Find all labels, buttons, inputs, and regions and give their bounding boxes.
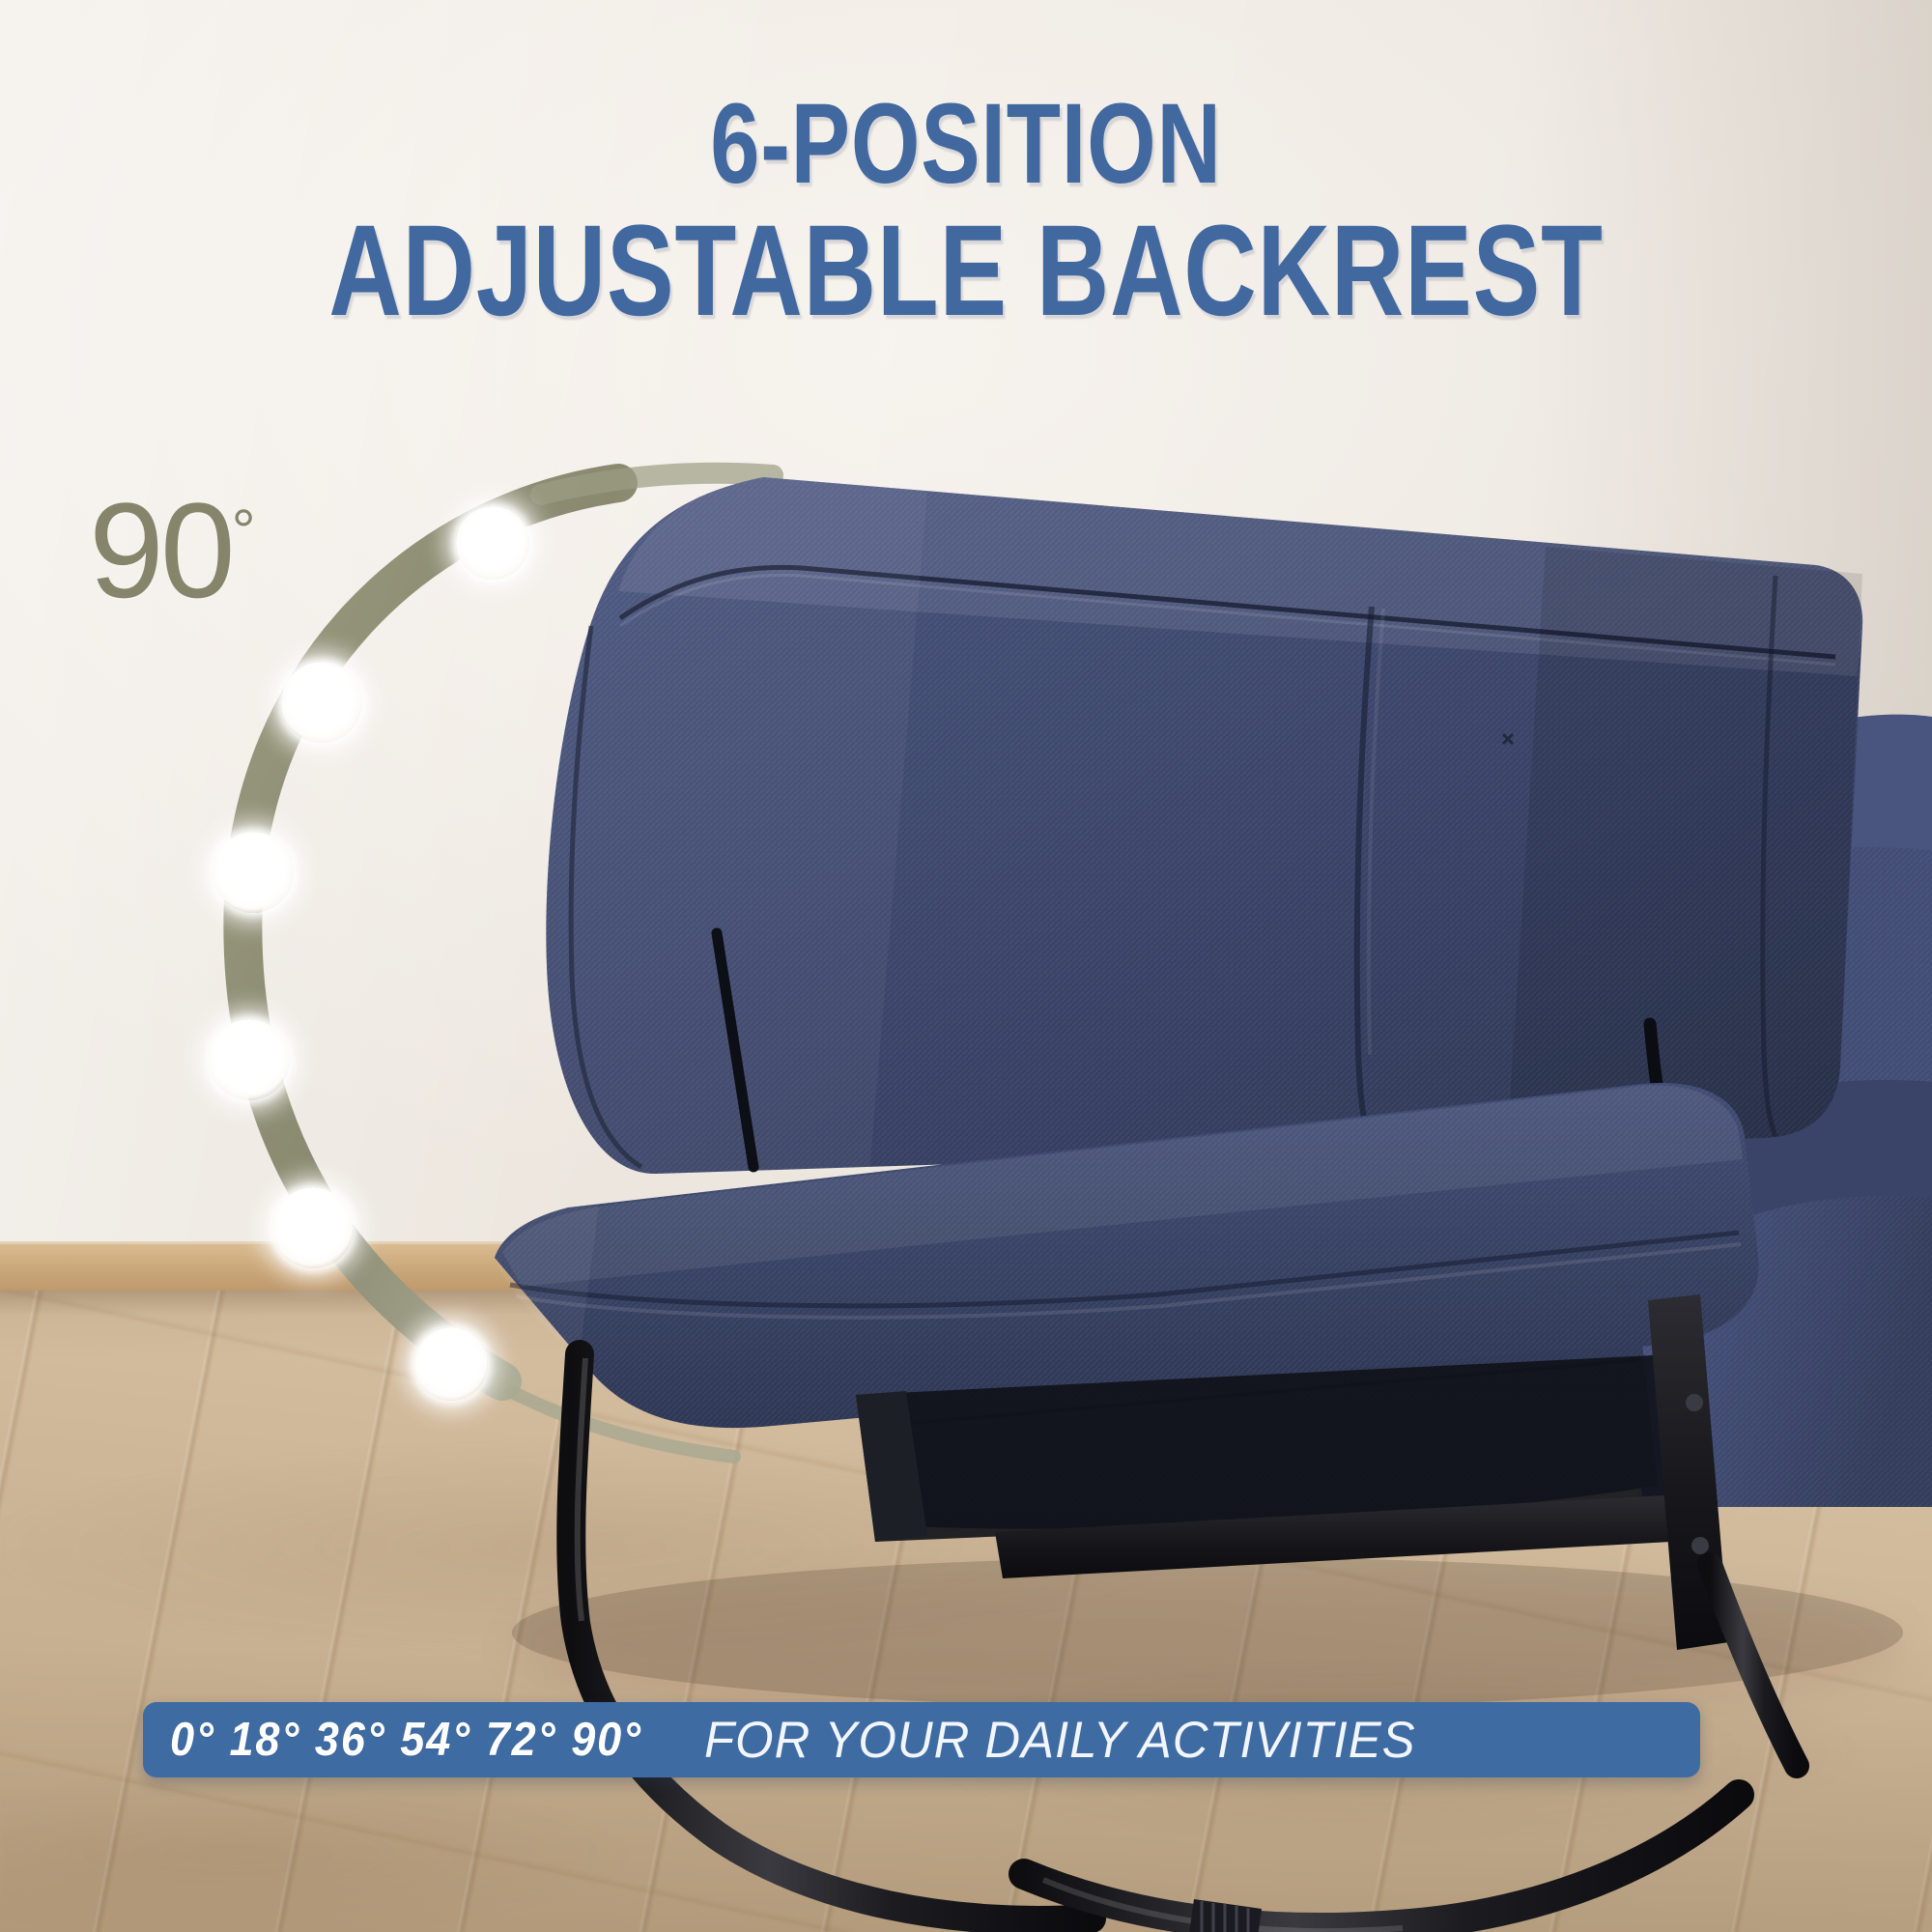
angle-18: 18° — [230, 1714, 301, 1766]
angle-list: 0°18°36°54°72°90° — [170, 1713, 657, 1767]
angle-0: 0° — [170, 1714, 215, 1766]
product-feature-graphic: 6-POSITION ADJUSTABLE BACKREST 90° — [0, 0, 1932, 1932]
frame-bolt-icon — [1691, 1537, 1709, 1554]
banner-tagline: FOR YOUR DAILY ACTIVITIES — [704, 1711, 1416, 1770]
angle-36: 36° — [315, 1714, 386, 1766]
angle-54: 54° — [400, 1714, 471, 1766]
angles-banner: 0°18°36°54°72°90° FOR YOUR DAILY ACTIVIT… — [143, 1702, 1700, 1777]
sofa-foot-cap — [1188, 1899, 1262, 1932]
angle-90: 90° — [571, 1714, 642, 1766]
angle-72: 72° — [486, 1714, 557, 1766]
frame-bolt-icon — [1686, 1394, 1703, 1411]
sofa-product-photo — [0, 0, 1932, 1932]
